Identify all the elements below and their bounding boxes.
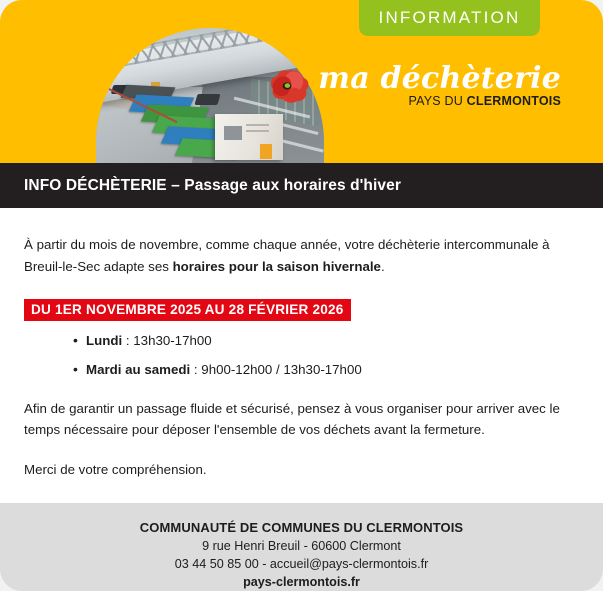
article-title: INFO DÉCHÈTERIE – Passage aux horaires d…	[24, 177, 401, 195]
footer-organisation: COMMUNAUTÉ DE COMMUNES DU CLERMONTOIS	[20, 519, 583, 538]
list-item: Lundi : 13h30-17h00	[86, 331, 579, 351]
footer-contact: 03 44 50 85 00 - accueil@pays-clermontoi…	[20, 555, 583, 573]
article-title-bar: INFO DÉCHÈTERIE – Passage aux horaires d…	[0, 163, 603, 208]
poppy-flower-icon	[268, 68, 310, 104]
intro-text-bold: horaires pour la saison hivernale	[173, 259, 381, 274]
photo-kiosk-building	[215, 114, 283, 160]
brand-subtitle-prefix: PAYS DU	[409, 94, 467, 108]
notice-paragraph: Afin de garantir un passage fluide et sé…	[24, 398, 579, 441]
opening-hours-list: Lundi : 13h30-17h00 Mardi au samedi : 9h…	[24, 331, 579, 380]
intro-paragraph: À partir du mois de novembre, comme chaq…	[24, 234, 579, 277]
closing-paragraph: Merci de votre compréhension.	[24, 459, 579, 481]
intro-text-end: .	[381, 259, 385, 274]
newsletter-card: INFORMATION ma déchèterie PAYS DU CLERMO…	[0, 0, 603, 585]
list-item: Mardi au samedi : 9h00-12h00 / 13h30-17h…	[86, 360, 579, 380]
brand-logo: ma déchèterie PAYS DU CLERMONTOIS	[268, 64, 561, 108]
photo-vehicle	[195, 94, 221, 105]
footer-website: pays-clermontois.fr	[20, 573, 583, 591]
hours-times: 9h00-12h00 / 13h30-17h00	[201, 362, 361, 377]
brand-logo-text: ma déchèterie PAYS DU CLERMONTOIS	[318, 64, 561, 108]
article-body: À partir du mois de novembre, comme chaq…	[0, 208, 603, 503]
information-badge-label: INFORMATION	[379, 8, 521, 28]
information-badge: INFORMATION	[359, 0, 540, 36]
photo-kiosk-panel	[224, 126, 242, 140]
photo-equipment	[260, 144, 271, 159]
hours-day-label: Mardi au samedi	[86, 362, 190, 377]
brand-subtitle-bold: CLERMONTOIS	[467, 94, 561, 108]
date-range-badge: DU 1ER NOVEMBRE 2025 AU 28 FÉVRIER 2026	[24, 299, 351, 321]
hours-separator: :	[122, 333, 133, 348]
hours-times: 13h30-17h00	[133, 333, 211, 348]
brand-name: ma déchèterie	[318, 64, 561, 94]
hours-day-label: Lundi	[86, 333, 122, 348]
page-footer: COMMUNAUTÉ DE COMMUNES DU CLERMONTOIS 9 …	[0, 503, 603, 591]
photo-kiosk-vents	[246, 124, 269, 136]
hours-separator: :	[190, 362, 201, 377]
hero-banner: INFORMATION ma déchèterie PAYS DU CLERMO…	[0, 0, 603, 163]
brand-subtitle: PAYS DU CLERMONTOIS	[318, 95, 561, 108]
footer-address: 9 rue Henri Breuil - 60600 Clermont	[20, 537, 583, 555]
